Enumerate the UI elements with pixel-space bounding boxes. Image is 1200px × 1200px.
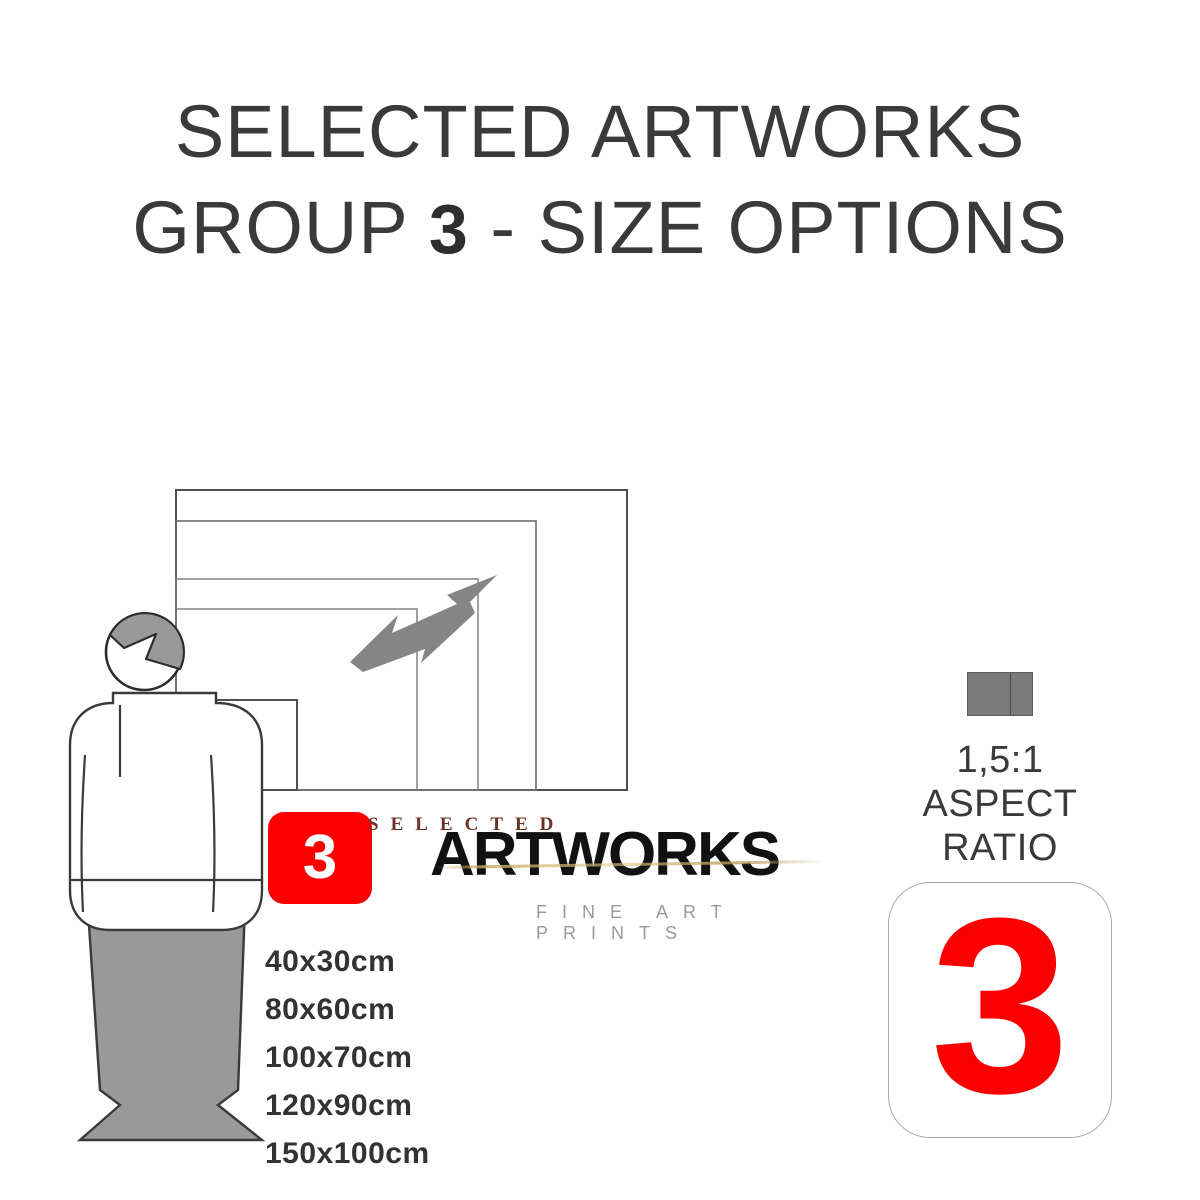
logo-artworks-word: ARTWORKS — [430, 824, 779, 886]
aspect-ratio-value: 1,5:1 — [890, 738, 1110, 782]
aspect-ratio-divider-line — [1010, 673, 1011, 715]
size-option-item: 80x60cm — [265, 986, 685, 1034]
logo-group-badge-number: 3 — [303, 827, 337, 889]
poster-canvas: SELECTED ARTWORKS GROUP 3 - SIZE OPTIONS — [0, 0, 1200, 1200]
size-option-item: 150x100cm — [265, 1130, 685, 1178]
size-option-item: 120x90cm — [265, 1082, 685, 1130]
aspect-ratio-rectangle-icon — [967, 672, 1033, 716]
brand-logo: 3 SELECTED ARTWORKS FINE ART PRINTS — [268, 812, 828, 934]
size-option-item: 40x30cm — [265, 938, 685, 986]
aspect-ratio-label-line2: RATIO — [890, 826, 1110, 870]
size-option-item: 100x70cm — [265, 1034, 685, 1082]
aspect-ratio-block: 1,5:1 ASPECT RATIO — [890, 672, 1110, 870]
group-number-card-digit: 3 — [930, 881, 1069, 1131]
logo-group-badge: 3 — [268, 812, 372, 904]
group-number-card: 3 — [888, 882, 1112, 1138]
logo-text-column: SELECTED ARTWORKS FINE ART PRINTS — [364, 812, 828, 934]
size-options-list: 40x30cm 80x60cm 100x70cm 120x90cm 150x10… — [265, 938, 685, 1178]
aspect-ratio-label-line1: ASPECT — [890, 782, 1110, 826]
figure-torso — [70, 693, 262, 930]
